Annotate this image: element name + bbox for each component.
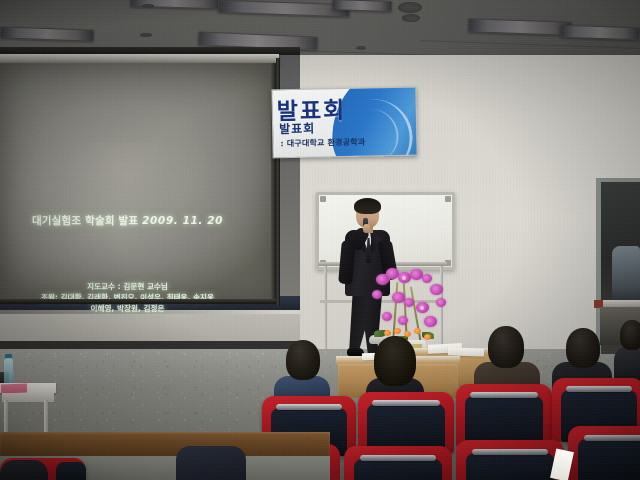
- presenter-hair: [354, 198, 381, 214]
- chair-backrest-pad: [578, 439, 640, 480]
- ceiling-light-panel: [560, 25, 640, 41]
- water-bottle: [4, 358, 13, 385]
- slide-title-line: 대기실험조 학술회 발표 2009. 11. 20: [0, 213, 255, 228]
- auditorium-chair: [358, 392, 454, 454]
- chair-backrest-pad: [466, 453, 554, 480]
- orchid-bloom: [398, 316, 408, 325]
- whiteboard-corner: [320, 196, 326, 202]
- whiteboard-corner: [445, 196, 451, 202]
- auditorium-chair: [344, 446, 452, 480]
- banner-affiliation: : 대구대학교 환경공학과: [280, 137, 365, 150]
- ceiling-vent-icon: [398, 2, 422, 13]
- baseboard: [0, 341, 300, 349]
- presenter-hand-holding-microphone: [363, 224, 370, 233]
- orange-flower: [414, 328, 421, 334]
- stage-edge-wood-trim: [0, 432, 330, 458]
- ceiling-smoke-detector-icon: [356, 46, 366, 50]
- chair-top-bar: [470, 392, 538, 398]
- orchid-center: [420, 306, 424, 310]
- audience-member: [176, 436, 246, 480]
- audience-head: [286, 340, 320, 380]
- audience-head: [620, 320, 640, 350]
- person-in-alcove: [612, 246, 640, 304]
- lecture-hall-photo: 대기실험조 학술회 발표 2009. 11. 20 지도교수 : 김문현 교수님…: [0, 0, 640, 480]
- slide-date-text: 2009. 11. 20: [142, 215, 223, 227]
- orchid-bloom: [382, 312, 392, 321]
- audience-shoulders: [0, 460, 48, 480]
- pink-paper: [1, 384, 27, 394]
- chair-top-bar: [276, 404, 342, 410]
- chair-top-bar: [472, 449, 548, 455]
- orchid-bloom: [422, 274, 432, 283]
- audience-shoulders: [176, 446, 246, 480]
- audience-member: [614, 320, 640, 380]
- audience-head: [566, 328, 600, 368]
- slide-title-text: 대기실험조 학술회 발표: [32, 215, 138, 227]
- orange-flower: [424, 334, 431, 340]
- ceiling-smoke-detector-icon: [142, 4, 154, 8]
- orange-flower: [394, 328, 401, 334]
- orchid-center: [402, 276, 406, 280]
- audience-head: [488, 326, 524, 368]
- orchid-bloom: [404, 298, 414, 307]
- orchid-bloom: [372, 290, 382, 299]
- ceiling-smoke-detector-icon: [140, 33, 152, 37]
- chair-top-bar: [360, 455, 436, 461]
- slide-subtitle-block: 지도교수 : 김문현 교수님 조원: 김대환, 김래환, 변진오, 이성우, 최…: [0, 281, 255, 314]
- auditorium-chair: [568, 426, 640, 480]
- slide-advisor-line: 지도교수 : 김문현 교수님: [0, 281, 255, 292]
- chair-top-bar: [372, 400, 440, 406]
- projection-screen-edge-bottom: [0, 299, 277, 304]
- ceiling-vent-icon: [402, 14, 420, 22]
- auditorium-chair: [456, 440, 564, 480]
- audience-head: [374, 336, 416, 386]
- chair-top-bar: [584, 435, 640, 441]
- ceiling-light-panel: [332, 0, 392, 12]
- event-banner: 발표회 발표회 : 대구대학교 환경공학과: [271, 87, 417, 159]
- chair-top-bar: [566, 386, 632, 392]
- orchid-bloom: [436, 298, 446, 307]
- chair-backrest-pad: [354, 459, 442, 480]
- projection-screen: 대기실험조 학술회 발표 2009. 11. 20 지도교수 : 김문현 교수님…: [0, 63, 276, 303]
- slide-members-line-2: 이혜영, 박장원, 김정은: [0, 303, 255, 314]
- audience-member: [0, 452, 48, 480]
- auditorium-chair: [456, 384, 552, 448]
- banner-subline: 발표회: [279, 120, 315, 138]
- wall-base-band: [0, 314, 300, 344]
- orchid-bloom: [430, 284, 443, 295]
- orchid-bloom: [424, 316, 437, 327]
- chair-backrest-pad: [56, 462, 86, 480]
- audience-shoulders: [614, 346, 640, 382]
